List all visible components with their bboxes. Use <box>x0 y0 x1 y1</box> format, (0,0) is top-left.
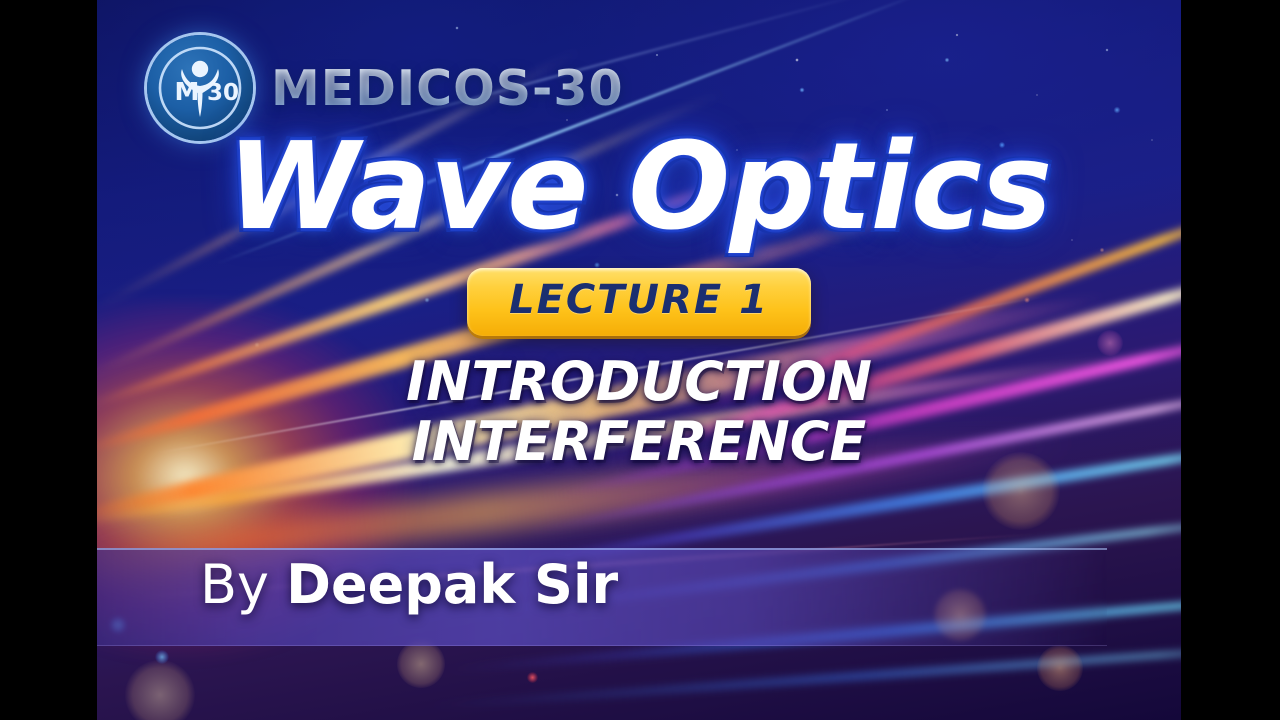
thumbnail-stage: M 30 MEDICOS-30 Wave Optics LECTURE 1 IN… <box>0 0 1280 720</box>
presenter-prefix: By <box>200 553 286 616</box>
subtitle-line-1: INTRODUCTION <box>97 352 1181 412</box>
artwork-canvas: M 30 MEDICOS-30 Wave Optics LECTURE 1 IN… <box>97 0 1181 720</box>
bokeh-orange-small <box>1037 645 1083 691</box>
page-title: Wave Optics <box>97 128 1181 248</box>
subtitle-block: INTRODUCTION INTERFERENCE <box>97 352 1181 473</box>
presenter-name: Deepak Sir <box>286 553 618 616</box>
lecture-badge-container: LECTURE 1 <box>97 268 1181 336</box>
presenter-credit: By Deepak Sir <box>200 558 618 612</box>
subtitle-line-2: INTERFERENCE <box>97 412 1181 472</box>
letterbox-right-bar <box>1181 0 1280 720</box>
lecture-badge: LECTURE 1 <box>467 268 811 336</box>
logo-letter-m: M <box>175 77 200 106</box>
logo-number-30: 30 <box>207 80 239 106</box>
letterbox-left-bar <box>0 0 97 720</box>
brand-name: MEDICOS-30 <box>271 60 624 117</box>
